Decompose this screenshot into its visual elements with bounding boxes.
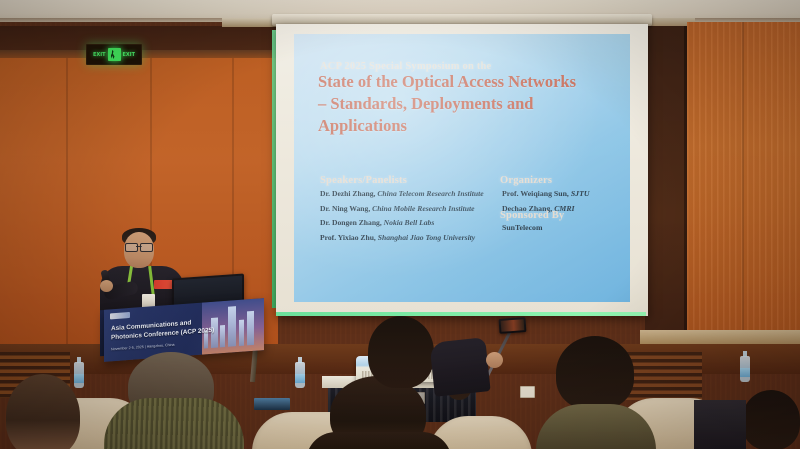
emergency-exit-sign: EXIT EXIT — [86, 44, 142, 65]
speaker-name: Prof. Yixiao Zhu, — [320, 233, 376, 242]
organizers-heading: Organizers — [500, 175, 552, 186]
presenter-jacket-logo — [154, 280, 174, 289]
organizers-list: Prof. Weiqiang Sun, SJTU Dechao Zhang, C… — [502, 187, 622, 217]
speaker-name: Dr. Dezhi Zhang, — [320, 189, 375, 198]
list-item: Prof. Yixiao Zhu, Shanghai Jiao Tong Uni… — [320, 231, 500, 246]
conference-photo: EXIT EXIT ACP 2025 Special Symposium on … — [0, 0, 800, 449]
hand-holding-stick — [486, 352, 503, 368]
speaker-affiliation: China Mobile Research Institute — [372, 204, 474, 213]
water-bottle — [295, 362, 305, 388]
audience-member-right — [556, 336, 634, 410]
list-item: Dr. Dezhi Zhang, China Telecom Research … — [320, 187, 500, 202]
smartphone-recording — [499, 317, 527, 334]
wall-seam — [66, 56, 68, 356]
speaker-name: Dr. Ning Wang, — [320, 204, 370, 213]
speakers-heading: Speakers/Panelists — [320, 175, 407, 186]
organizer-affiliation: CMRI — [554, 204, 574, 213]
slide-title-line-2: – Standards, Deployments and — [318, 93, 618, 115]
dark-pillar — [645, 24, 687, 344]
audience-member-long-hair — [368, 316, 434, 388]
list-item: Dr. Dongen Zhang, Nokia Bell Labs — [320, 216, 500, 231]
wall-seam — [742, 22, 744, 332]
slide-kicker: ACP 2025 Special Symposium on the — [320, 61, 491, 72]
organizer-name: Prof. Weiqiang Sun, — [502, 189, 569, 198]
sponsored-by-heading: Sponsored By — [500, 210, 564, 221]
presentation-slide: ACP 2025 Special Symposium on the State … — [294, 34, 630, 302]
speaker-affiliation: China Telecom Research Institute — [377, 189, 483, 198]
audience-member-center — [306, 432, 452, 449]
slide-title-line-1: State of the Optical Access Networks — [318, 71, 618, 93]
speaker-affiliation: Shanghai Jiao Tong University — [378, 233, 475, 242]
screen-edge-glow-bottom — [276, 312, 646, 316]
exit-label-right: EXIT — [123, 52, 136, 58]
acp-logo — [110, 312, 130, 319]
screen-roller-cap — [222, 18, 278, 27]
audience-member-far-right — [742, 390, 800, 449]
water-bottle — [74, 362, 84, 388]
audience-member-far-right-shoulder — [694, 400, 746, 449]
wall-baseboard — [640, 330, 800, 344]
presenter-hand — [100, 280, 113, 292]
podium-date: November 2-5, 2025 | Hangzhou, China — [111, 343, 174, 352]
exit-label-left: EXIT — [93, 52, 106, 58]
speaker-name: Dr. Dongen Zhang, — [320, 218, 382, 227]
sponsor-name: SunTelecom — [502, 223, 542, 232]
organizer-affiliation: SJTU — [571, 189, 590, 198]
speaker-affiliation: Nokia Bell Labs — [384, 218, 435, 227]
organizer-name: Dechao Zhang, — [502, 204, 552, 213]
slide-title: State of the Optical Access Networks – S… — [318, 71, 618, 137]
audience-member-arm-raised — [429, 337, 490, 397]
water-bottle — [740, 356, 750, 382]
running-man-exit-icon — [108, 48, 121, 61]
list-item: Prof. Weiqiang Sun, SJTU — [502, 187, 622, 202]
wall-outlet — [520, 386, 535, 398]
eyeglasses-icon — [125, 243, 153, 250]
audience-member-front-left — [6, 374, 80, 449]
slide-title-line-3: Applications — [318, 115, 618, 137]
list-item: Dechao Zhang, CMRI — [502, 202, 622, 217]
speakers-list: Dr. Dezhi Zhang, China Telecom Research … — [320, 187, 500, 245]
list-item: Dr. Ning Wang, China Mobile Research Ins… — [320, 202, 500, 217]
rear-tablet — [254, 398, 290, 410]
audience-member-green-jacket — [104, 398, 244, 449]
